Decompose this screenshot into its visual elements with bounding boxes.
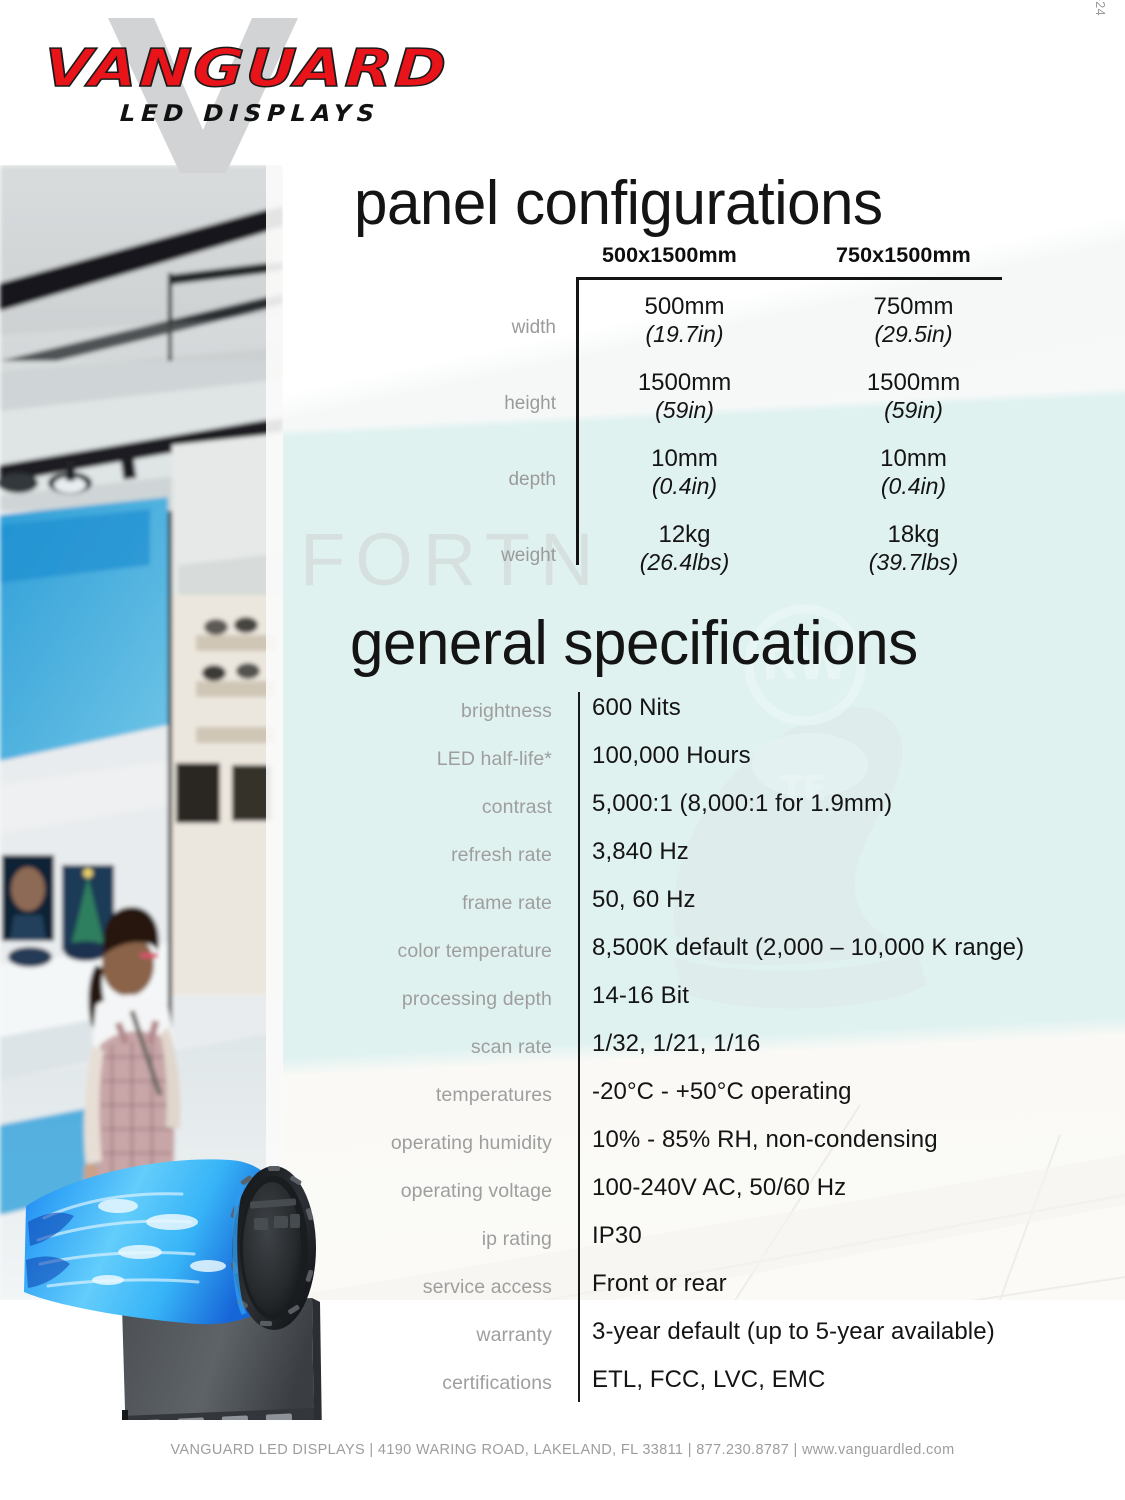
spec-label: color temperature: [300, 940, 552, 963]
spec-label: LED half-life*: [300, 748, 552, 771]
list-item: temperatures -20°C - +50°C operating: [0, 1072, 1125, 1120]
spec-label: refresh rate: [300, 844, 552, 867]
config-cell: 750mm (29.5in): [806, 293, 1021, 348]
page-header: VANGUARD LED DISPLAYS 26-Apr-24: [0, 0, 1125, 165]
spec-label: service access: [300, 1276, 552, 1299]
list-item: warranty 3-year default (up to 5-year av…: [0, 1312, 1125, 1360]
config-cell-metric: 12kg: [577, 521, 792, 549]
config-row-label: weight: [360, 545, 556, 567]
config-cell-imperial: (0.4in): [806, 473, 1021, 500]
spec-label: brightness: [300, 700, 552, 723]
footer-contact-text: VANGUARD LED DISPLAYS | 4190 WARING ROAD…: [0, 1442, 1125, 1458]
list-item: contrast 5,000:1 (8,000:1 for 1.9mm): [0, 784, 1125, 832]
config-cell-imperial: (0.4in): [577, 473, 792, 500]
logo-tagline: LED DISPLAYS: [119, 101, 408, 127]
list-item: brightness 600 Nits: [0, 688, 1125, 736]
list-item: operating humidity 10% - 85% RH, non-con…: [0, 1120, 1125, 1168]
spec-value: 1/32, 1/21, 1/16: [592, 1030, 760, 1058]
spec-value: 100,000 Hours: [592, 742, 751, 770]
logo-wordmark: VANGUARD: [42, 44, 458, 95]
list-item: LED half-life* 100,000 Hours: [0, 736, 1125, 784]
list-item: operating voltage 100-240V AC, 50/60 Hz: [0, 1168, 1125, 1216]
table-row: width 500mm (19.7in) 750mm (29.5in): [0, 291, 1125, 366]
config-cell-imperial: (26.4lbs): [577, 549, 792, 576]
spec-label: temperatures: [300, 1084, 552, 1107]
config-cell-imperial: (59in): [806, 397, 1021, 424]
config-cell-imperial: (29.5in): [806, 321, 1021, 348]
config-cell-metric: 750mm: [806, 293, 1021, 321]
spec-value: 14-16 Bit: [592, 982, 689, 1010]
config-cell-metric: 1500mm: [806, 369, 1021, 397]
spec-label: frame rate: [300, 892, 552, 915]
spec-label: processing depth: [300, 988, 552, 1011]
config-row-label: depth: [360, 469, 556, 491]
vanguard-logo: VANGUARD LED DISPLAYS: [44, 44, 394, 127]
list-item: scan rate 1/32, 1/21, 1/16: [0, 1024, 1125, 1072]
spec-sheet-page: FORTN RW TE: [0, 0, 1125, 1500]
page-footer: VANGUARD LED DISPLAYS | 4190 WARING ROAD…: [0, 1420, 1125, 1500]
config-cell-imperial: (59in): [577, 397, 792, 424]
config-column-header: 750x1500mm: [836, 243, 971, 268]
spec-label: ip rating: [300, 1228, 552, 1251]
spec-value: 600 Nits: [592, 694, 681, 722]
list-item: refresh rate 3,840 Hz: [0, 832, 1125, 880]
config-cell: 10mm (0.4in): [577, 445, 792, 500]
panel-configurations-table: 500x1500mm 750x1500mm width 500mm (19.7i…: [0, 243, 1125, 578]
config-column-header: 500x1500mm: [602, 243, 737, 268]
config-cell: 10mm (0.4in): [806, 445, 1021, 500]
document-date: 26-Apr-24: [1093, 0, 1107, 16]
config-cell: 18kg (39.7lbs): [806, 521, 1021, 576]
spec-value: -20°C - +50°C operating: [592, 1078, 852, 1106]
config-cell-metric: 10mm: [577, 445, 792, 473]
spec-label: contrast: [300, 796, 552, 819]
config-cell: 12kg (26.4lbs): [577, 521, 792, 576]
spec-value: 3-year default (up to 5-year available): [592, 1318, 995, 1346]
spec-value: ETL, FCC, LVC, EMC: [592, 1366, 825, 1394]
config-cell: 500mm (19.7in): [577, 293, 792, 348]
spec-label: scan rate: [300, 1036, 552, 1059]
spec-value: Front or rear: [592, 1270, 727, 1298]
config-row-label: height: [360, 393, 556, 415]
spec-label: operating humidity: [300, 1132, 552, 1155]
config-row-label: width: [360, 317, 556, 339]
config-table-top-rule: [576, 277, 1002, 280]
list-item: ip rating IP30: [0, 1216, 1125, 1264]
spec-value: 5,000:1 (8,000:1 for 1.9mm): [592, 790, 892, 818]
config-cell-imperial: (19.7in): [577, 321, 792, 348]
general-specifications-list: brightness 600 Nits LED half-life* 100,0…: [0, 688, 1125, 1408]
list-item: service access Front or rear: [0, 1264, 1125, 1312]
config-cell-metric: 10mm: [806, 445, 1021, 473]
list-item: color temperature 8,500K default (2,000 …: [0, 928, 1125, 976]
config-cell: 1500mm (59in): [806, 369, 1021, 424]
list-item: processing depth 14-16 Bit: [0, 976, 1125, 1024]
spec-label: operating voltage: [300, 1180, 552, 1203]
table-row: height 1500mm (59in) 1500mm (59in): [0, 367, 1125, 442]
config-cell-imperial: (39.7lbs): [806, 549, 1021, 576]
spec-label: certifications: [300, 1372, 552, 1395]
spec-value: 10% - 85% RH, non-condensing: [592, 1126, 938, 1154]
page-title-general-specifications: general specifications: [350, 608, 918, 679]
list-item: certifications ETL, FCC, LVC, EMC: [0, 1360, 1125, 1408]
config-cell-metric: 1500mm: [577, 369, 792, 397]
spec-value: 8,500K default (2,000 – 10,000 K range): [592, 934, 1024, 962]
spec-value: 100-240V AC, 50/60 Hz: [592, 1174, 846, 1202]
config-cell: 1500mm (59in): [577, 369, 792, 424]
list-item: frame rate 50, 60 Hz: [0, 880, 1125, 928]
spec-label: warranty: [300, 1324, 552, 1347]
config-cell-metric: 500mm: [577, 293, 792, 321]
spec-value: 50, 60 Hz: [592, 886, 696, 914]
table-row: depth 10mm (0.4in) 10mm (0.4in): [0, 443, 1125, 518]
spec-value: 3,840 Hz: [592, 838, 689, 866]
page-title-panel-configurations: panel configurations: [354, 168, 883, 239]
spec-value: IP30: [592, 1222, 642, 1250]
config-cell-metric: 18kg: [806, 521, 1021, 549]
table-row: weight 12kg (26.4lbs) 18kg (39.7lbs): [0, 519, 1125, 594]
